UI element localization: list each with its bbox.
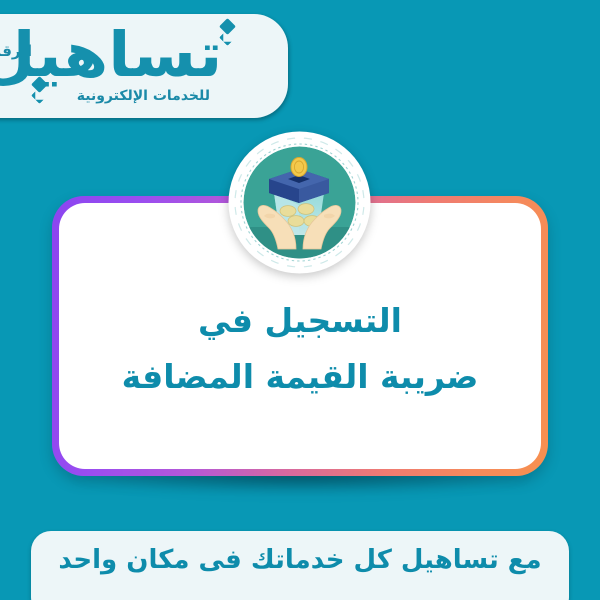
diamond-chevron-icon: [221, 20, 238, 46]
tagline-banner[interactable]: مع تساهيل كل خدماتك فى مكان واحد: [31, 531, 569, 600]
brand-logo-inner: الرقمية تساهيل للخدمات الإلكترونية: [0, 14, 240, 118]
poster-root: الرقمية تساهيل للخدمات الإلكترونية التسج…: [0, 0, 600, 600]
brand-logo-badge[interactable]: الرقمية تساهيل للخدمات الإلكترونية: [0, 14, 288, 118]
diamond-chevron-icon: [33, 78, 50, 104]
card-title-line-1: التسجيل في: [198, 300, 402, 342]
card-title-line-2: ضريبة القيمة المضافة: [122, 356, 479, 398]
tagline-banner-text: مع تساهيل كل خدماتك فى مكان واحد: [58, 545, 541, 575]
brand-tagline-bottom: للخدمات الإلكترونية: [77, 88, 210, 104]
donation-box-in-hands-icon: [228, 131, 371, 274]
